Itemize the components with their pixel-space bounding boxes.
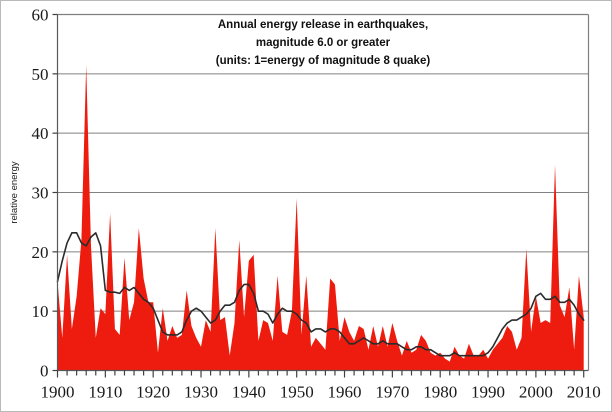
x-axis-ticks <box>58 371 584 378</box>
x-tick-label-2000: 2000 <box>519 383 553 402</box>
y-tick-label-40: 40 <box>32 124 49 143</box>
chart-title-line-3: (units: 1=energy of magnitude 8 quake) <box>216 55 431 67</box>
y-tick-label-0: 0 <box>40 362 49 381</box>
x-tick-label-1900: 1900 <box>41 383 75 402</box>
chart-canvas: 0102030405060 19001910192019301940195019… <box>1 1 611 411</box>
chart-title-line-1: Annual energy release in earthquakes, <box>218 19 428 31</box>
x-tick-label-1930: 1930 <box>184 383 218 402</box>
y-axis-title-text: relative energy <box>9 161 20 224</box>
x-tick-label-1990: 1990 <box>471 383 505 402</box>
x-axis-tick-labels: 1900191019201930194019501960197019801990… <box>41 383 601 402</box>
y-axis-tick-labels: 0102030405060 <box>32 6 49 381</box>
chart-title-line-2: magnitude 6.0 or greater <box>256 37 391 49</box>
x-tick-label-1960: 1960 <box>328 383 362 402</box>
x-tick-label-1940: 1940 <box>232 383 266 402</box>
y-tick-label-60: 60 <box>32 6 49 25</box>
y-tick-label-30: 30 <box>32 184 49 203</box>
y-tick-label-50: 50 <box>32 65 49 84</box>
x-tick-label-1980: 1980 <box>423 383 457 402</box>
earthquake-energy-chart: 0102030405060 19001910192019301940195019… <box>0 0 612 412</box>
x-tick-label-1910: 1910 <box>88 383 122 402</box>
y-axis-ticks <box>53 15 58 371</box>
y-tick-label-20: 20 <box>32 243 49 262</box>
y-axis-title: relative energy <box>9 161 20 224</box>
y-tick-label-10: 10 <box>32 302 49 321</box>
x-tick-label-2010: 2010 <box>567 383 601 402</box>
x-tick-label-1950: 1950 <box>280 383 314 402</box>
x-tick-label-1970: 1970 <box>375 383 409 402</box>
x-tick-label-1920: 1920 <box>136 383 170 402</box>
